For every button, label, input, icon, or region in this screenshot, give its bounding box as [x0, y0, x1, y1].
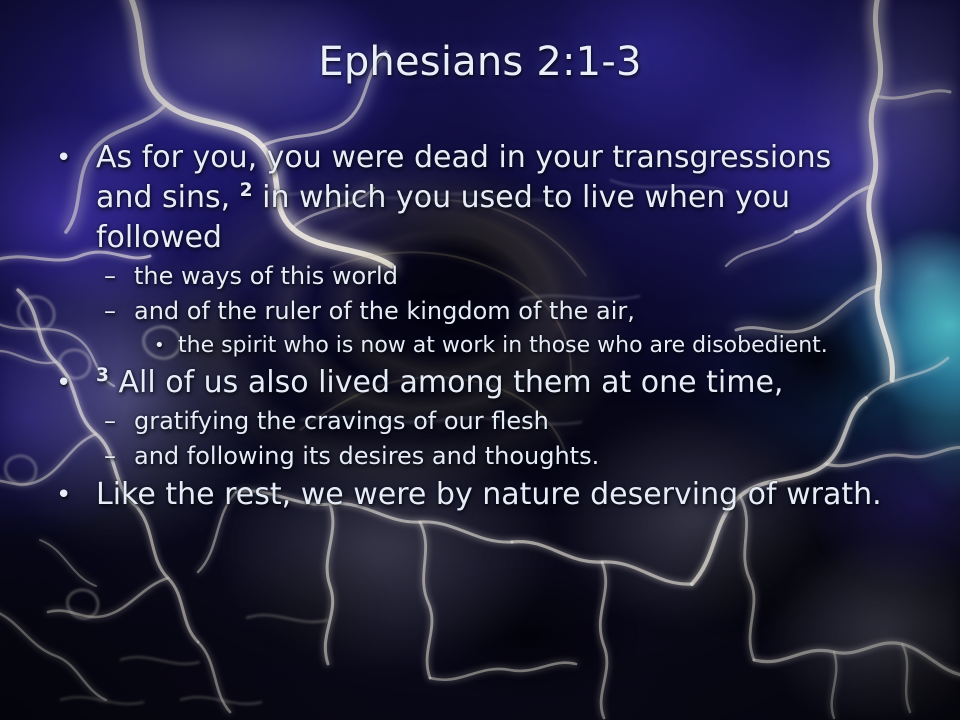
- bullet-dash-icon: –: [104, 440, 134, 473]
- list-item: • Like the rest, we were by nature deser…: [56, 475, 916, 515]
- presentation-slide: Ephesians 2:1-3 • As for you, you were d…: [0, 0, 960, 720]
- list-item: – gratifying the cravings of our flesh: [56, 405, 916, 438]
- verse-number-superscript: 2: [240, 180, 253, 201]
- list-item-text: As for you, you were dead in your transg…: [96, 138, 886, 258]
- bullet-dot-small-icon: •: [154, 330, 178, 361]
- list-item-text: the spirit who is now at work in those w…: [178, 330, 838, 361]
- list-item: – and following its desires and thoughts…: [56, 440, 916, 473]
- list-item-text: gratifying the cravings of our flesh: [134, 405, 916, 438]
- list-item: • the spirit who is now at work in those…: [56, 330, 916, 361]
- slide-content: Ephesians 2:1-3 • As for you, you were d…: [0, 0, 960, 720]
- list-item-text: the ways of this world: [134, 260, 916, 293]
- list-item-text-part-1: All of us also lived among them at one t…: [109, 365, 784, 400]
- list-item: • 3 All of us also lived among them at o…: [56, 363, 916, 403]
- list-item-text: 3 All of us also lived among them at one…: [96, 363, 886, 403]
- bullet-dot-icon: •: [56, 138, 96, 178]
- list-item-text: Like the rest, we were by nature deservi…: [96, 475, 886, 515]
- list-item: • As for you, you were dead in your tran…: [56, 138, 916, 258]
- slide-title: Ephesians 2:1-3: [0, 38, 960, 86]
- bullet-dot-icon: •: [56, 363, 96, 403]
- list-item-text: and of the ruler of the kingdom of the a…: [134, 295, 916, 328]
- list-item: – the ways of this world: [56, 260, 916, 293]
- bullet-dash-icon: –: [104, 260, 134, 293]
- bullet-dash-icon: –: [104, 405, 134, 438]
- list-item-text: and following its desires and thoughts.: [134, 440, 916, 473]
- verse-number-superscript: 3: [96, 365, 109, 386]
- bullet-dash-icon: –: [104, 295, 134, 328]
- list-item: – and of the ruler of the kingdom of the…: [56, 295, 916, 328]
- bullet-dot-icon: •: [56, 475, 96, 515]
- slide-body-bullet-list: • As for you, you were dead in your tran…: [56, 138, 916, 517]
